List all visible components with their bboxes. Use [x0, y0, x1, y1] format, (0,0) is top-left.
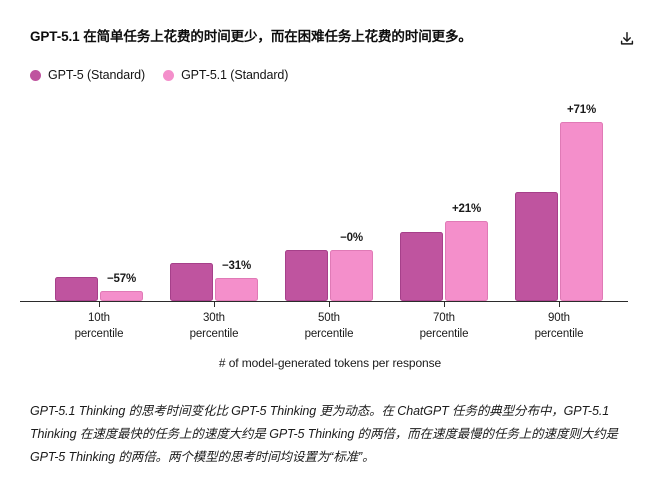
bar-GPT5.1Standard-1[interactable]: [215, 278, 258, 301]
x-tick-label-line2-2: percentile: [269, 327, 389, 343]
x-tick-label-line1-3: 70th: [384, 311, 504, 327]
x-tick-label-line1-1: 30th: [154, 311, 274, 327]
x-tick-label-0: 10thpercentile: [39, 311, 159, 342]
bar-GPT5.1Standard-4[interactable]: [560, 122, 603, 301]
bar-GPT5Standard-3[interactable]: [400, 232, 443, 301]
delta-label-0: −57%: [107, 273, 136, 285]
x-tick-label-line2-0: percentile: [39, 327, 159, 343]
x-tick-3: [444, 301, 445, 307]
delta-label-1: −31%: [222, 260, 251, 272]
legend-label-gpt51: GPT-5.1 (Standard): [181, 68, 288, 82]
delta-label-3: +21%: [452, 203, 481, 215]
bar-GPT5.1Standard-0[interactable]: [100, 291, 143, 301]
x-tick-label-4: 90thpercentile: [499, 311, 619, 342]
x-tick-4: [559, 301, 560, 307]
x-tick-label-line1-4: 90th: [499, 311, 619, 327]
chart-legend: GPT-5 (Standard) GPT-5.1 (Standard): [30, 68, 288, 82]
legend-item-gpt5[interactable]: GPT-5 (Standard): [30, 68, 145, 82]
bar-GPT5.1Standard-2[interactable]: [330, 250, 373, 301]
legend-swatch-gpt5: [30, 70, 41, 81]
x-tick-label-line2-3: percentile: [384, 327, 504, 343]
delta-label-4: +71%: [567, 104, 596, 116]
legend-item-gpt51[interactable]: GPT-5.1 (Standard): [163, 68, 288, 82]
figure-caption: GPT-5.1 Thinking 的思考时间变化比 GPT-5 Thinking…: [30, 400, 634, 469]
bar-GPT5Standard-1[interactable]: [170, 263, 213, 301]
bar-GPT5Standard-2[interactable]: [285, 250, 328, 301]
x-tick-label-3: 70thpercentile: [384, 311, 504, 342]
x-tick-label-line1-2: 50th: [269, 311, 389, 327]
legend-swatch-gpt51: [163, 70, 174, 81]
chart-card: GPT-5.1 在简单任务上花费的时间更少，而在困难任务上花费的时间更多。 GP…: [0, 0, 660, 486]
bar-GPT5Standard-4[interactable]: [515, 192, 558, 301]
x-tick-0: [99, 301, 100, 307]
x-axis-label: # of model-generated tokens per response: [0, 356, 660, 370]
download-icon: [618, 30, 636, 53]
x-tick-1: [214, 301, 215, 307]
x-tick-label-line2-1: percentile: [154, 327, 274, 343]
legend-label-gpt5: GPT-5 (Standard): [48, 68, 145, 82]
x-tick-2: [329, 301, 330, 307]
x-tick-label-2: 50thpercentile: [269, 311, 389, 342]
x-tick-label-line2-4: percentile: [499, 327, 619, 343]
download-button[interactable]: [616, 30, 638, 52]
x-tick-label-line1-0: 10th: [39, 311, 159, 327]
delta-label-2: −0%: [340, 232, 363, 244]
x-tick-label-1: 30thpercentile: [154, 311, 274, 342]
x-axis-line: [20, 301, 628, 302]
bar-GPT5.1Standard-3[interactable]: [445, 221, 488, 301]
page-title: GPT-5.1 在简单任务上花费的时间更少，而在困难任务上花费的时间更多。: [30, 28, 590, 46]
bar-GPT5Standard-0[interactable]: [55, 277, 98, 301]
